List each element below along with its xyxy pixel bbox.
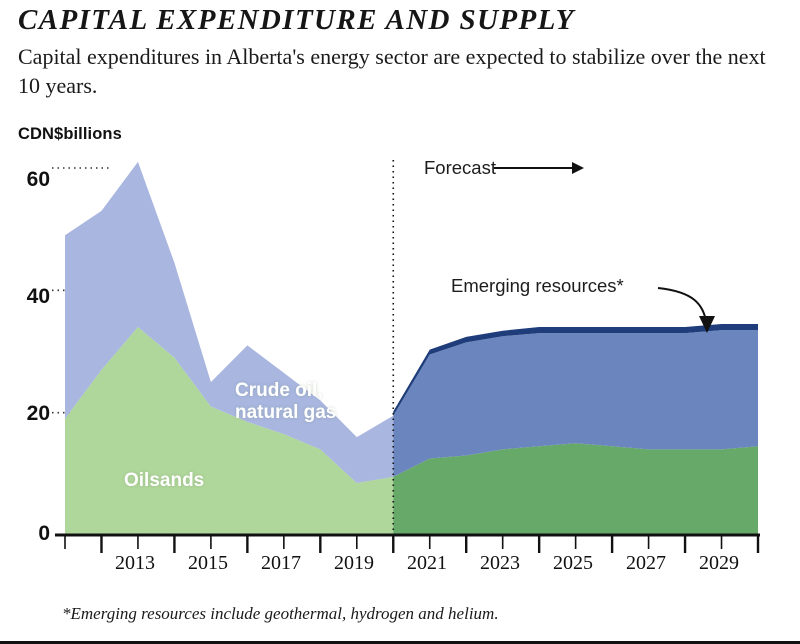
- x-tick-2021: 2021: [392, 552, 462, 575]
- x-tick-2023: 2023: [465, 552, 535, 575]
- chart-plot-area: 0 20 40 60 2013 2015 2017 2019 2021 2023…: [0, 0, 800, 644]
- x-tick-2013: 2013: [100, 552, 170, 575]
- callout-lines-group: [494, 162, 715, 333]
- area-chart-svg: [0, 0, 800, 644]
- chart-footnote: *Emerging resources include geothermal, …: [62, 604, 499, 624]
- x-tick-2025: 2025: [538, 552, 608, 575]
- x-tick-2029: 2029: [684, 552, 754, 575]
- crude-label-line-2: natural gas: [235, 402, 336, 424]
- infographic-root: CAPITAL EXPENDITURE AND SUPPLY Capital e…: [0, 0, 800, 644]
- emerging-arrow-curve: [658, 288, 706, 320]
- x-tick-2017: 2017: [246, 552, 316, 575]
- y-tick-0: 0: [10, 522, 50, 546]
- y-tick-20: 20: [10, 402, 50, 426]
- crude-label-line-1: Crude oil,: [235, 380, 336, 402]
- series-label-oilsands: Oilsands: [124, 470, 204, 492]
- x-tick-2015: 2015: [173, 552, 243, 575]
- y-tick-40: 40: [10, 285, 50, 309]
- emerging-resources-label: Emerging resources*: [451, 275, 624, 297]
- forecast-arrow-head: [572, 162, 584, 174]
- x-tick-2027: 2027: [611, 552, 681, 575]
- x-tick-2019: 2019: [319, 552, 389, 575]
- y-tick-60: 60: [10, 168, 50, 192]
- area-oilsands-forecast: [393, 443, 758, 535]
- series-label-crude-oil-natural-gas: Crude oil, natural gas: [235, 380, 336, 425]
- forecast-label: Forecast: [424, 157, 496, 179]
